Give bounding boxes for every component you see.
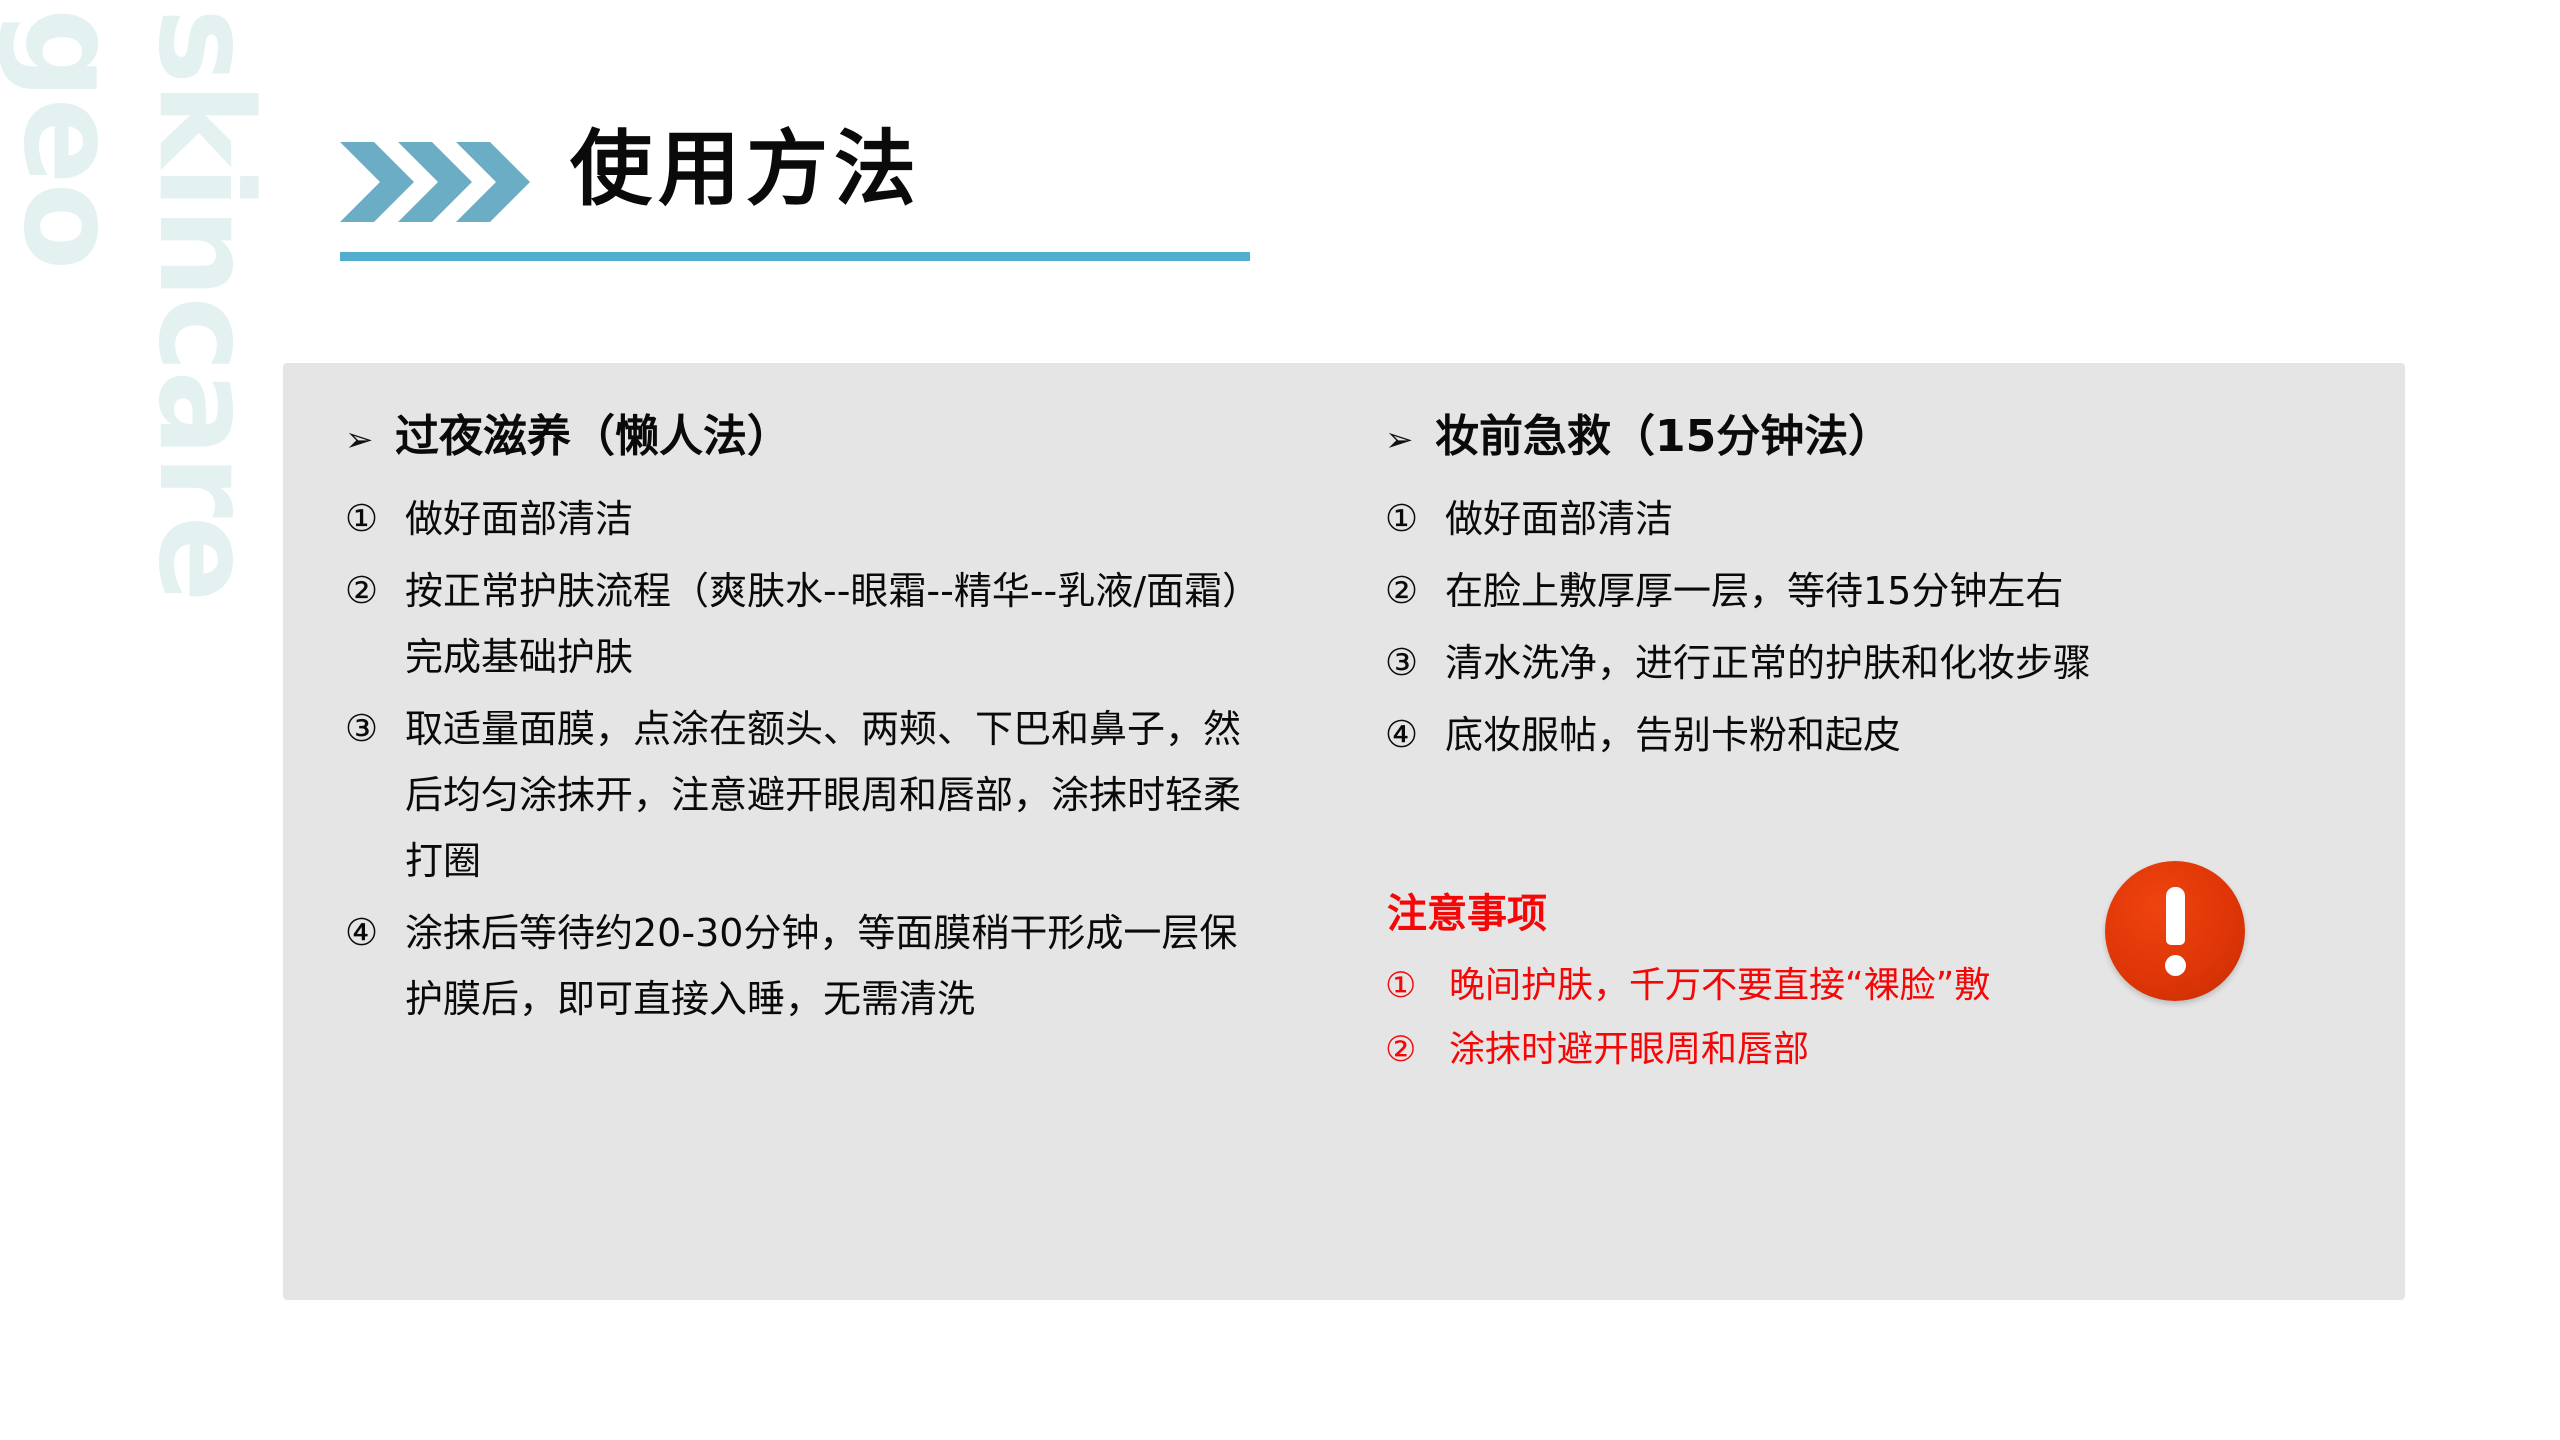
list-item: ④ 涂抹后等待约20-30分钟，等面膜稍干形成一层保护膜后，即可直接入睡，无需清… xyxy=(345,900,1305,1032)
arrow-bullet-icon: ➢ xyxy=(1385,412,1435,468)
notice-number: ② xyxy=(1385,1018,1449,1082)
step-number: ③ xyxy=(1385,630,1445,696)
step-text: 在脸上敷厚厚一层，等待15分钟左右 xyxy=(1445,558,2345,624)
list-item: ③ 清水洗净，进行正常的护肤和化妆步骤 xyxy=(1385,630,2345,696)
list-item: ④ 底妆服帖，告别卡粉和起皮 xyxy=(1385,702,2345,768)
step-number: ① xyxy=(1385,486,1445,552)
list-item: ① 做好面部清洁 xyxy=(1385,486,2345,552)
right-section-heading: ➢ 妆前急救（15分钟法） xyxy=(1385,409,2345,468)
step-number: ② xyxy=(1385,558,1445,624)
page-title: 使用方法 xyxy=(570,120,922,220)
title-underline xyxy=(340,252,1250,261)
exclamation-dot xyxy=(2165,955,2186,976)
brand-watermark: geo skincare xyxy=(0,0,300,1000)
step-text: 做好面部清洁 xyxy=(405,486,1265,552)
right-steps-list: ① 做好面部清洁 ② 在脸上敷厚厚一层，等待15分钟左右 ③ 清水洗净，进行正常… xyxy=(1385,486,2345,768)
step-text: 清水洗净，进行正常的护肤和化妆步骤 xyxy=(1445,630,2345,696)
watermark-line-skincare: skincare xyxy=(140,8,268,601)
list-item: ③ 取适量面膜，点涂在额头、两颊、下巴和鼻子，然后均匀涂抹开，注意避开眼周和唇部… xyxy=(345,696,1305,894)
arrow-bullet-icon: ➢ xyxy=(345,412,395,468)
step-number: ④ xyxy=(1385,702,1445,768)
step-text: 取适量面膜，点涂在额头、两颊、下巴和鼻子，然后均匀涂抹开，注意避开眼周和唇部，涂… xyxy=(405,696,1265,894)
step-number: ② xyxy=(345,558,405,624)
exclamation-stem xyxy=(2166,887,2185,945)
list-item: ② 按正常护肤流程（爽肤水--眼霜--精华--乳液/面霜）完成基础护肤 xyxy=(345,558,1305,690)
left-steps-list: ① 做好面部清洁 ② 按正常护肤流程（爽肤水--眼霜--精华--乳液/面霜）完成… xyxy=(345,486,1305,1032)
exclamation-warning-icon xyxy=(2105,861,2245,1001)
step-text: 底妆服帖，告别卡粉和起皮 xyxy=(1445,702,2345,768)
left-column: ➢ 过夜滋养（懒人法） ① 做好面部清洁 ② 按正常护肤流程（爽肤水--眼霜--… xyxy=(345,363,1305,1038)
list-item: ② 涂抹时避开眼周和唇部 xyxy=(1385,1018,2345,1082)
notice-text: 涂抹时避开眼周和唇部 xyxy=(1449,1018,2345,1082)
step-text: 涂抹后等待约20-30分钟，等面膜稍干形成一层保护膜后，即可直接入睡，无需清洗 xyxy=(405,900,1265,1032)
watermark-line-geo: geo xyxy=(5,8,133,268)
notice-number: ① xyxy=(1385,954,1449,1018)
step-number: ④ xyxy=(345,900,405,966)
left-section-heading: ➢ 过夜滋养（懒人法） xyxy=(345,409,1305,468)
slide-title-block: 使用方法 xyxy=(340,120,1340,280)
step-text: 做好面部清洁 xyxy=(1445,486,2345,552)
triple-chevron-icon xyxy=(340,142,530,222)
right-section-heading-label: 妆前急救（15分钟法） xyxy=(1435,409,1892,465)
step-number: ① xyxy=(345,486,405,552)
list-item: ② 在脸上敷厚厚一层，等待15分钟左右 xyxy=(1385,558,2345,624)
step-text: 按正常护肤流程（爽肤水--眼霜--精华--乳液/面霜）完成基础护肤 xyxy=(405,558,1265,690)
content-panel: ➢ 过夜滋养（懒人法） ① 做好面部清洁 ② 按正常护肤流程（爽肤水--眼霜--… xyxy=(283,363,2405,1300)
list-item: ① 做好面部清洁 xyxy=(345,486,1305,552)
left-section-heading-label: 过夜滋养（懒人法） xyxy=(395,409,791,465)
step-number: ③ xyxy=(345,696,405,762)
